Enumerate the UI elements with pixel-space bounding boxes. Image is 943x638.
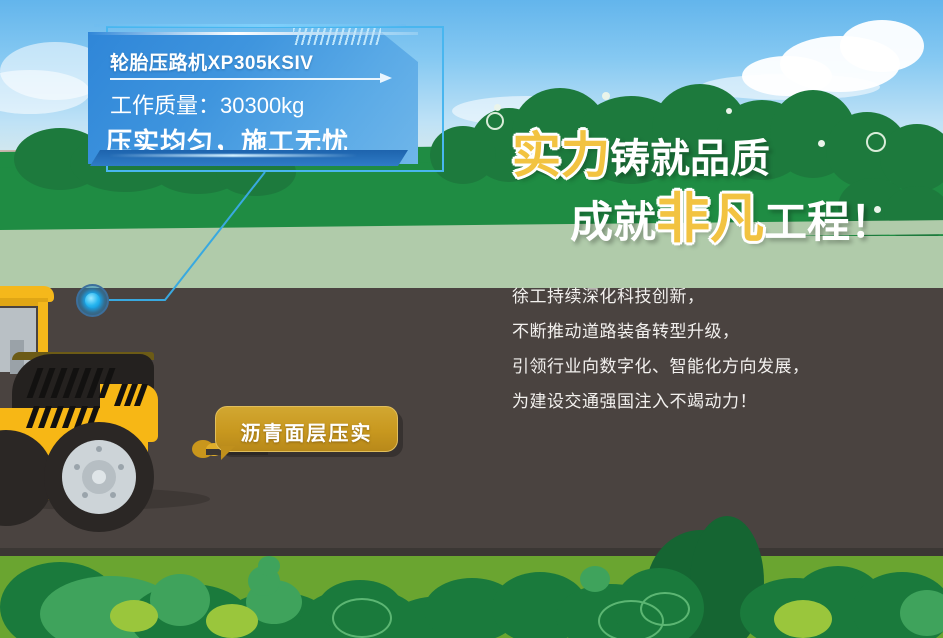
leaf-dot — [726, 108, 732, 114]
callout-bubble[interactable]: 沥青面层压实 — [215, 406, 398, 452]
arrow-icon — [380, 73, 392, 83]
headline-line-1: 实力铸就品质 — [512, 132, 770, 181]
card-spec-line: 工作质量：30300kg — [110, 88, 304, 120]
wheel-lug — [96, 446, 102, 452]
bush-outline — [640, 592, 690, 626]
product-banner: 轮胎压路机XP305KSIV 工作质量：30300kg 压实均匀，施工无忧 实力… — [0, 0, 943, 638]
headline-block: 实力铸就品质 成就非凡工程！ — [498, 132, 918, 252]
bush — [206, 604, 258, 638]
bush — [150, 574, 210, 626]
wheel-cap — [92, 470, 106, 484]
leaf-dot — [494, 104, 501, 111]
copy-line: 徐工持续深化科技创新， — [512, 288, 912, 305]
headline-line-2: 成就非凡工程！ — [570, 192, 893, 246]
hotspot-core-icon — [85, 293, 100, 308]
copy-line: 不断推动道路装备转型升级， — [512, 323, 912, 340]
leaf-dot — [602, 92, 610, 100]
wheel-lug — [82, 492, 88, 498]
bush — [110, 600, 158, 632]
body-copy: 徐工持续深化科技创新， 不断推动道路装备转型升级， 引领行业向数字化、智能化方向… — [512, 288, 912, 428]
card-top-accent-line — [94, 24, 406, 27]
wheel-lug — [74, 464, 80, 470]
bush — [258, 556, 280, 576]
headline-gold-2: 非凡 — [656, 189, 764, 249]
callout-label: 沥青面层压实 — [215, 417, 398, 446]
headline-white-2b: 工程！ — [764, 199, 893, 247]
wheel-lug — [110, 492, 116, 498]
card-footer-bar — [90, 150, 408, 166]
leaf-ring — [486, 112, 504, 130]
wheel-lug — [118, 464, 124, 470]
card-title: 轮胎压路机XP305KSIV — [110, 48, 313, 75]
bush-outline — [332, 598, 392, 638]
copy-line: 引领行业向数字化、智能化方向发展， — [512, 358, 912, 375]
bush — [580, 566, 610, 592]
cloud — [840, 20, 924, 72]
road-roller-illustration — [0, 280, 212, 520]
headline-white-1: 铸就品质 — [610, 137, 770, 181]
headline-white-2a: 成就 — [570, 199, 656, 247]
card-footer-glow — [108, 154, 358, 157]
hatch-decoration-icon — [293, 28, 381, 45]
card-divider — [110, 78, 382, 80]
product-info-card[interactable]: 轮胎压路机XP305KSIV 工作质量：30300kg 压实均匀，施工无忧 — [88, 22, 448, 172]
headline-gold-1: 实力 — [512, 129, 610, 183]
bush — [774, 600, 832, 638]
copy-line: 为建设交通强国注入不竭动力！ — [512, 393, 912, 410]
callout-tail-icon — [221, 446, 235, 460]
